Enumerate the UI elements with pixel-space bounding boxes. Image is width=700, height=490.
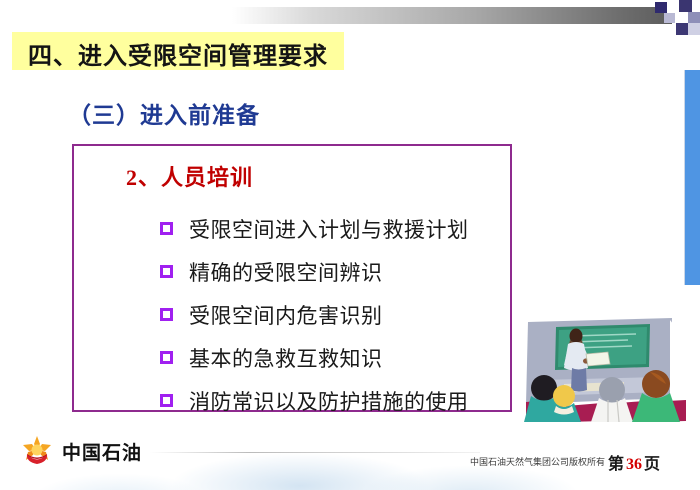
list-item-label: 受限空间进入计划与救援计划 — [189, 214, 469, 244]
list-item: 精确的受限空间辨识 — [160, 250, 520, 293]
checker-square — [676, 23, 688, 35]
list-item-label: 精确的受限空间辨识 — [189, 257, 383, 287]
page-number-value: 36 — [626, 456, 642, 473]
list-item: 受限空间内危害识别 — [160, 293, 520, 336]
petrochina-logo-icon — [20, 434, 54, 468]
square-outline-bullet-icon — [160, 394, 173, 407]
list-item: 基本的急救互救知识 — [160, 336, 520, 379]
checker-square — [688, 12, 700, 23]
checker-square — [692, 0, 700, 12]
list-item-label: 受限空间内危害识别 — [189, 300, 383, 330]
list-item: 消防常识以及防护措施的使用 — [160, 379, 520, 422]
page-prefix-label: 第 — [608, 456, 624, 473]
list-item: 受限空间进入计划与救援计划 — [160, 207, 520, 250]
page-title: 四、进入受限空间管理要求 — [28, 36, 348, 71]
checker-square — [667, 2, 679, 13]
classroom-training-illustration — [520, 314, 688, 422]
training-topics-list: 受限空间进入计划与救援计划 精确的受限空间辨识 受限空间内危害识别 基本的急救互… — [160, 207, 520, 422]
section-subtitle: （三）进入前准备 — [68, 96, 260, 130]
page-number-indicator: 第36页 — [608, 450, 660, 474]
square-outline-bullet-icon — [160, 222, 173, 235]
square-outline-bullet-icon — [160, 308, 173, 321]
list-item-label: 基本的急救互救知识 — [189, 343, 383, 373]
footer-divider — [150, 452, 480, 453]
page-suffix-label: 页 — [644, 456, 660, 473]
slide-canvas: 四、进入受限空间管理要求 （三）进入前准备 2、人员培训 受限空间进入计划与救援… — [0, 0, 700, 490]
blue-vertical-accent-bar — [684, 70, 700, 285]
list-item-label: 消防常识以及防护措施的使用 — [189, 386, 469, 416]
checker-square — [655, 2, 667, 13]
checker-square — [679, 0, 692, 12]
checker-square — [688, 23, 700, 35]
brand-block: 中国石油 — [20, 434, 142, 468]
square-outline-bullet-icon — [160, 265, 173, 278]
top-gradient-bar — [232, 7, 672, 24]
brand-name-label: 中国石油 — [62, 438, 142, 465]
content-heading: 2、人员培训 — [126, 160, 253, 192]
checker-square — [664, 13, 675, 23]
square-outline-bullet-icon — [160, 351, 173, 364]
copyright-notice: 中国石油天然气集团公司版权所有 — [470, 455, 605, 468]
